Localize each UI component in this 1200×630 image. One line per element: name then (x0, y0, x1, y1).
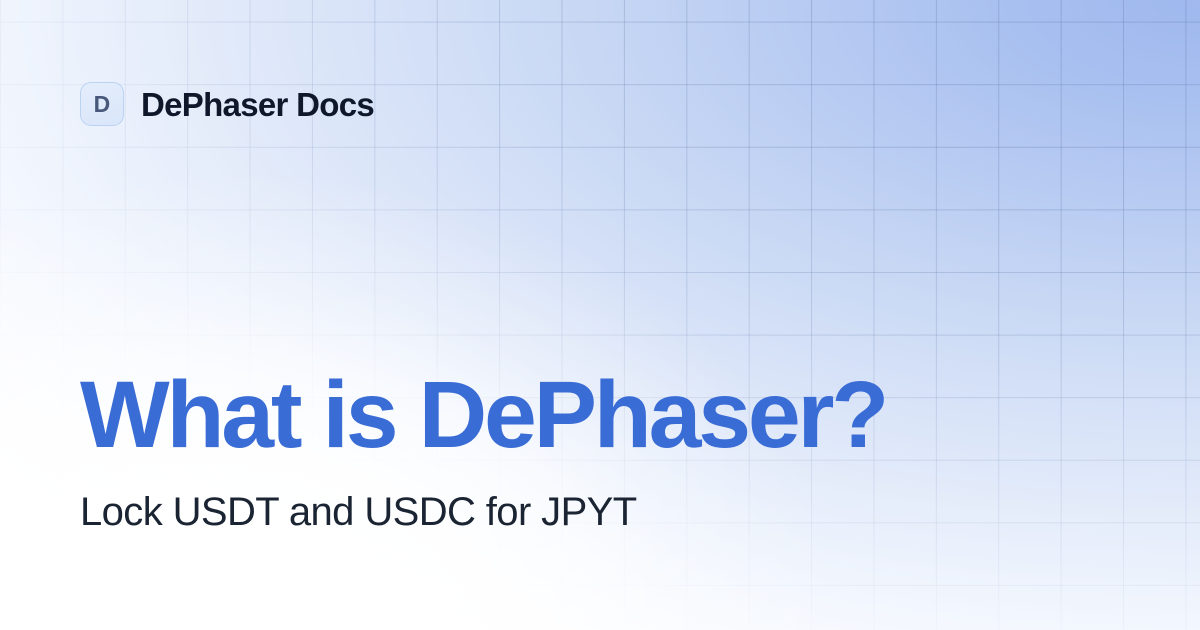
og-card: D DePhaser Docs What is DePhaser? Lock U… (0, 0, 1200, 630)
page-title: What is DePhaser? (80, 368, 886, 463)
page-subtitle: Lock USDT and USDC for JPYT (80, 463, 886, 535)
brand-title: DePhaser Docs (141, 88, 374, 121)
card-content: D DePhaser Docs What is DePhaser? Lock U… (0, 0, 1200, 630)
brand-lockup: D DePhaser Docs (80, 82, 374, 126)
brand-logo-badge: D (80, 82, 124, 126)
hero-text-block: What is DePhaser? Lock USDT and USDC for… (80, 368, 886, 535)
